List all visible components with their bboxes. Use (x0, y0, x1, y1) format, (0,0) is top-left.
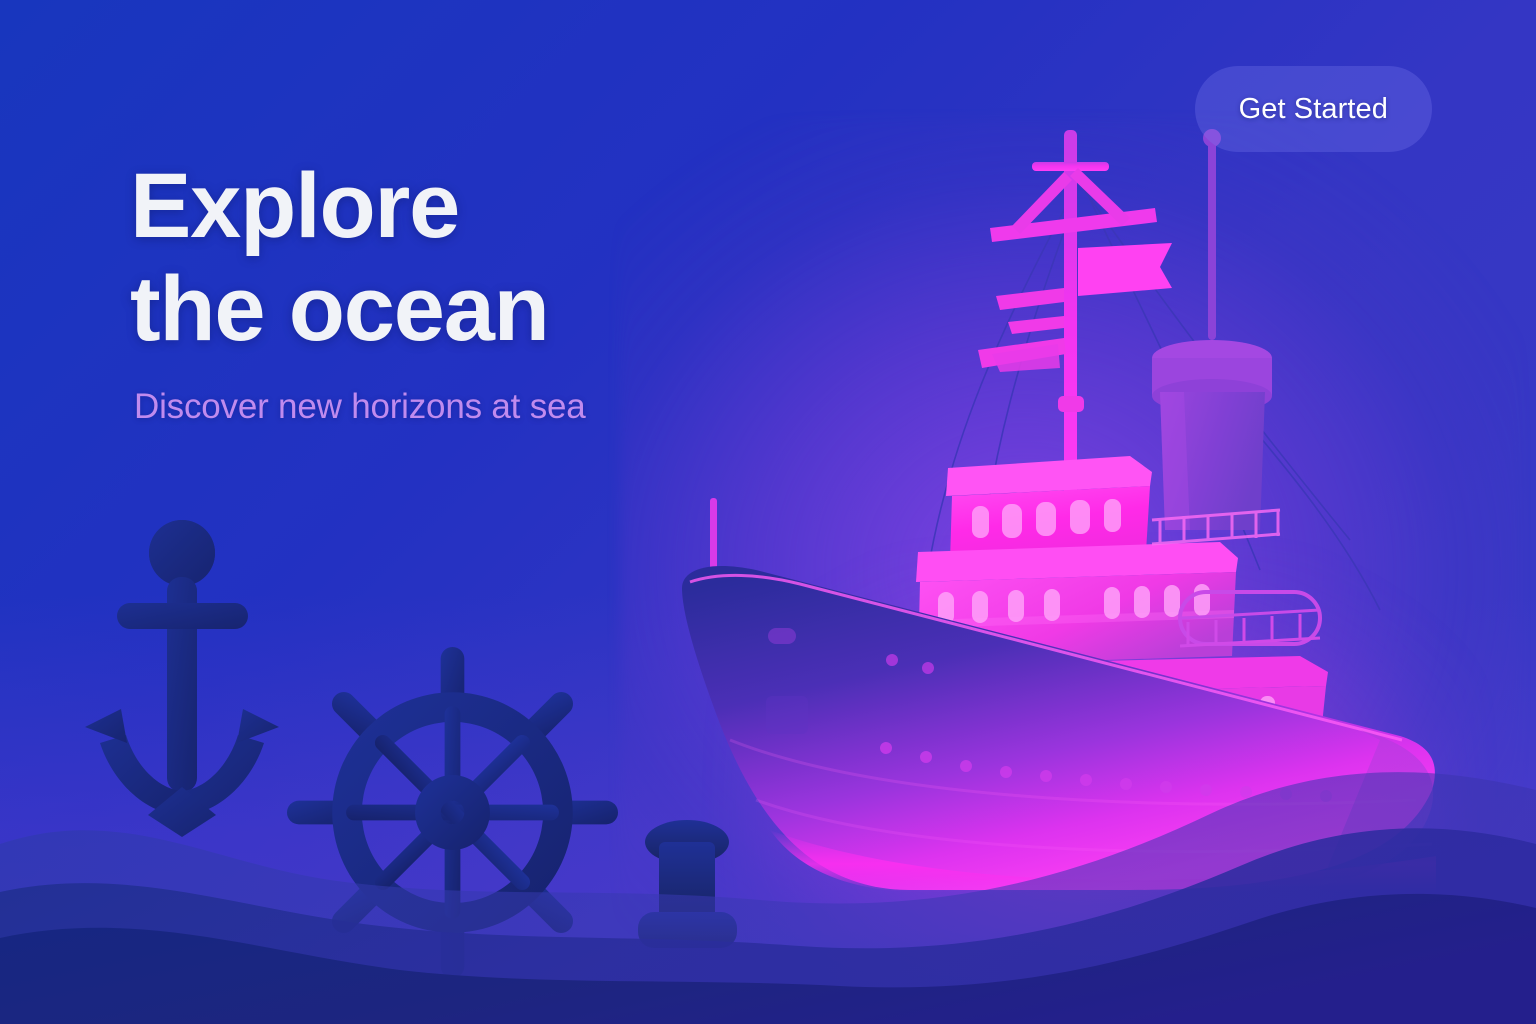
antenna (1208, 140, 1216, 340)
hero-scene: Explore the ocean Discover new horizons … (0, 0, 1536, 1024)
page-subtitle: Discover new horizons at sea (134, 387, 770, 427)
wave-layers (0, 694, 1536, 1024)
funnel (1152, 129, 1272, 530)
get-started-button[interactable]: Get Started (1195, 66, 1432, 152)
pennant-flag (1078, 243, 1172, 296)
hero-text-block: Explore the ocean Discover new horizons … (130, 155, 770, 427)
page-title: Explore the ocean (130, 155, 770, 361)
